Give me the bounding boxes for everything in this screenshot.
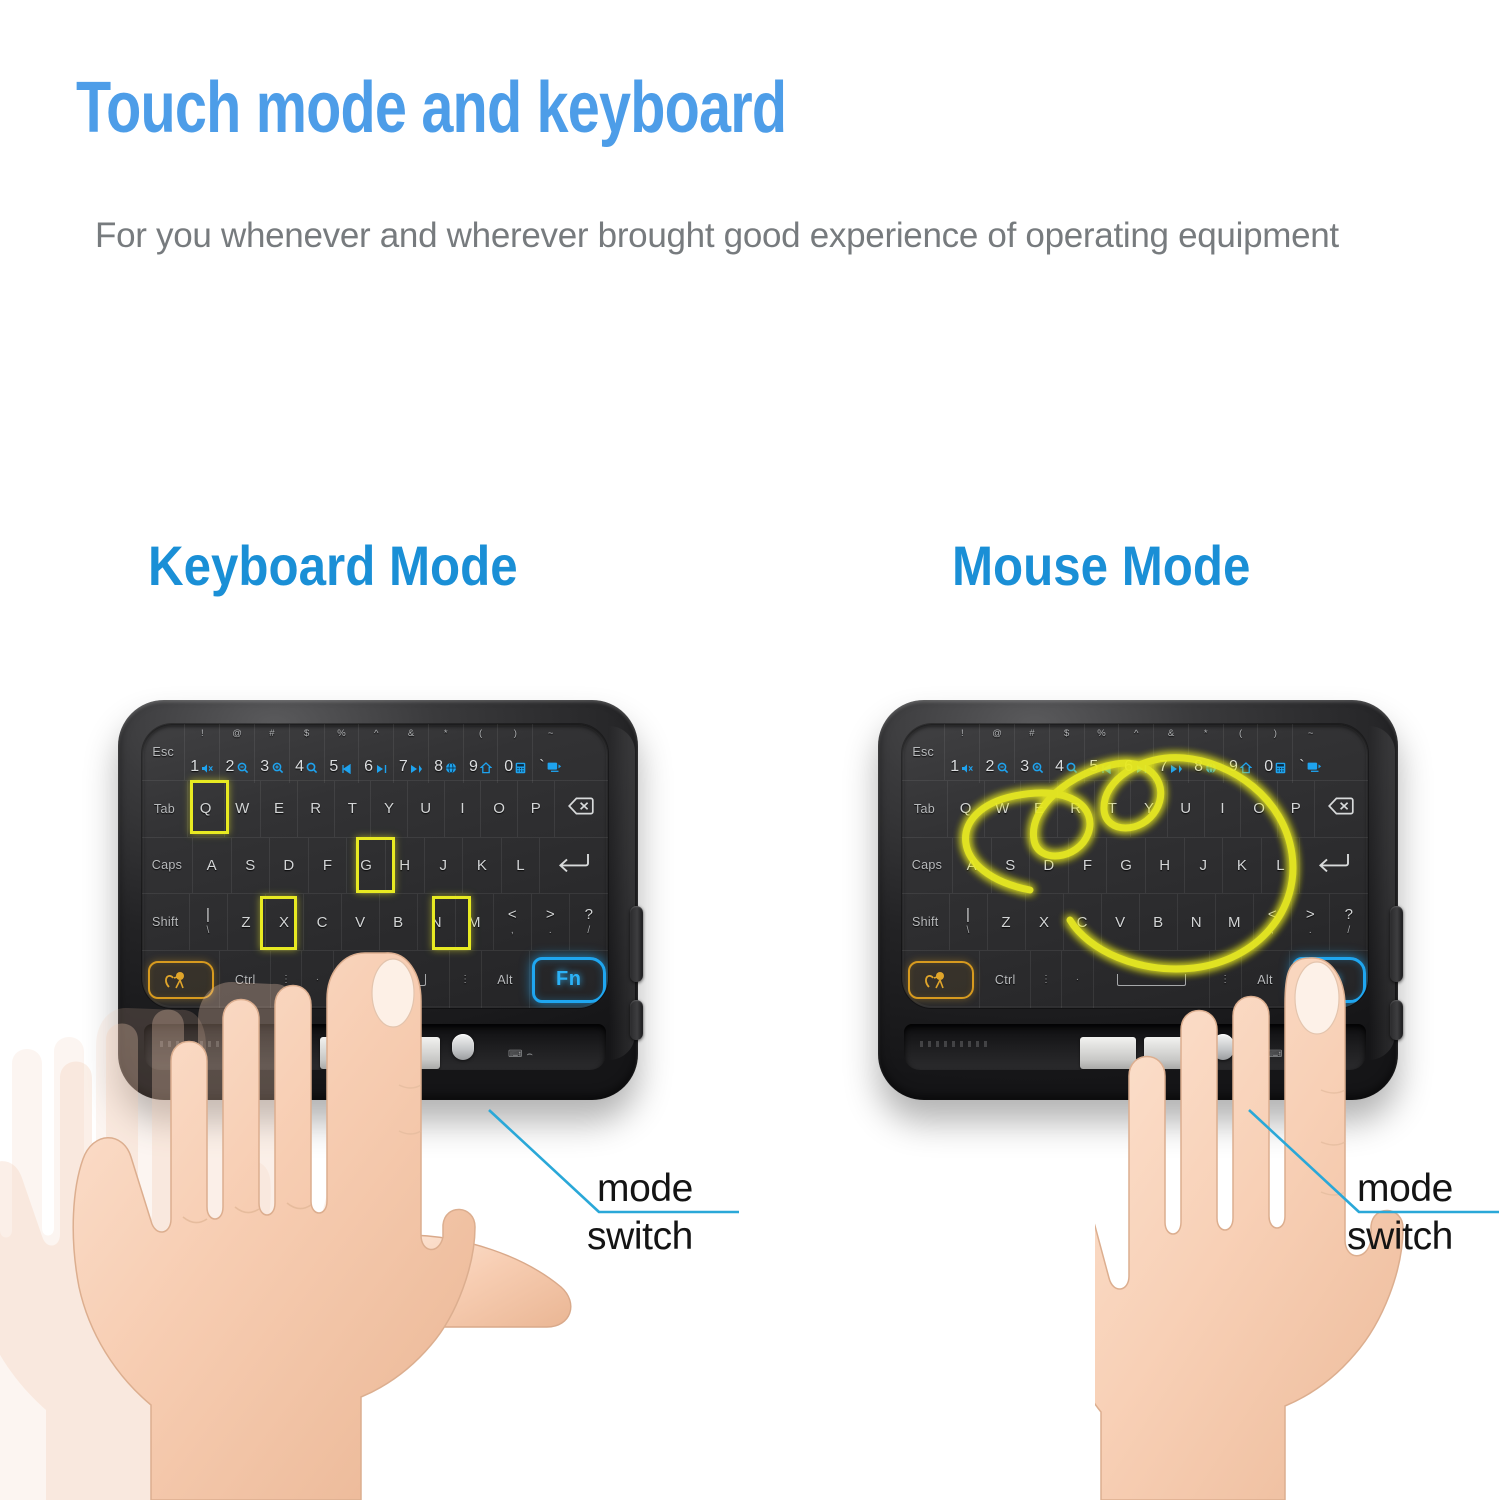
key-8-symbol: * — [444, 728, 448, 739]
key-a[interactable]: A — [953, 838, 992, 894]
browser-icon — [1205, 762, 1217, 774]
key-h[interactable]: H — [1146, 838, 1185, 894]
key-3-symbol: # — [1029, 728, 1034, 739]
key-5-symbol: % — [1097, 728, 1105, 739]
key-caps[interactable]: Caps — [142, 838, 193, 894]
key-4-symbol: $ — [304, 728, 309, 739]
key-shift[interactable]: Shift — [902, 894, 950, 950]
key-3-symbol: # — [269, 728, 274, 739]
key-i[interactable]: I — [1205, 781, 1242, 837]
key-4-symbol: $ — [1064, 728, 1069, 739]
key-k[interactable]: K — [463, 838, 502, 894]
key-w[interactable]: W — [225, 781, 262, 837]
key-8[interactable]: * 8 — [1189, 724, 1224, 783]
callout-line-1: mode — [597, 1168, 693, 1210]
volume-up-icon — [1032, 762, 1044, 774]
key-g[interactable]: G — [347, 838, 386, 894]
key-0-symbol: ) — [514, 728, 517, 739]
key-w[interactable]: W — [985, 781, 1022, 837]
key-t[interactable]: T — [335, 781, 372, 837]
key-enter[interactable] — [1300, 838, 1368, 894]
enter-icon — [1317, 852, 1351, 878]
key-7-digit: 7 — [399, 758, 408, 776]
key-s[interactable]: S — [992, 838, 1031, 894]
key-slash-top: ? — [1345, 907, 1354, 923]
key-9-digit: 9 — [1229, 758, 1238, 776]
key-0-symbol: ) — [1274, 728, 1277, 739]
key-l[interactable]: L — [502, 838, 541, 894]
key-backspace[interactable] — [1315, 781, 1368, 837]
backspace-icon — [1328, 797, 1354, 821]
key-backslash-top: | — [206, 907, 210, 923]
key-x[interactable]: X — [1026, 894, 1064, 950]
key-7[interactable]: & 7 — [394, 724, 429, 783]
key-3[interactable]: # 3 — [1015, 724, 1050, 783]
callout-line-2: switch — [587, 1216, 693, 1258]
key-8-digit: 8 — [1194, 758, 1203, 776]
key-2-symbol: @ — [992, 728, 1002, 739]
key-caps[interactable]: Caps — [902, 838, 953, 894]
side-button-upper[interactable] — [630, 906, 643, 982]
key-backspace[interactable] — [555, 781, 608, 837]
key-2-symbol: @ — [232, 728, 242, 739]
key-6[interactable]: ^ 6 — [359, 724, 394, 783]
key-1[interactable]: ! 1 — [945, 724, 980, 783]
key-u[interactable]: U — [1168, 781, 1205, 837]
key-backtick-symbol: ~ — [1308, 728, 1314, 739]
key-2[interactable]: @ 2 — [220, 724, 255, 783]
callout-line-1: mode — [1357, 1168, 1453, 1210]
key-h[interactable]: H — [386, 838, 425, 894]
key-5-digit: 5 — [329, 758, 338, 776]
key-arrow-left[interactable]: ⋮ — [1031, 951, 1062, 1008]
arrow-cluster-icon: ⋮ — [1041, 974, 1051, 985]
key-0-digit: 0 — [1264, 758, 1273, 776]
key-comma-top: < — [1268, 907, 1277, 923]
key-8-digit: 8 — [434, 758, 443, 776]
calculator-icon — [1275, 762, 1286, 774]
key-2-digit: 2 — [986, 758, 995, 776]
key-5-symbol: % — [337, 728, 345, 739]
enter-icon — [557, 852, 591, 878]
key-8-symbol: * — [1204, 728, 1208, 739]
key-8[interactable]: * 8 — [429, 724, 464, 783]
mouse-mode-panel: Esc ! 1 @ 2 # 3 — [750, 0, 1500, 1500]
key-backtick-digit: ` — [1299, 758, 1305, 776]
mute-icon — [961, 763, 974, 774]
key-5-digit: 5 — [1089, 758, 1098, 776]
key-arrow-up[interactable]: · — [1062, 951, 1093, 1008]
key-3-digit: 3 — [1020, 758, 1029, 776]
key-y[interactable]: Y — [1131, 781, 1168, 837]
key-j[interactable]: J — [425, 838, 464, 894]
key-t[interactable]: T — [1095, 781, 1132, 837]
key-r[interactable]: R — [1058, 781, 1095, 837]
key-7-digit: 7 — [1159, 758, 1168, 776]
key-d[interactable]: D — [270, 838, 309, 894]
key-6-symbol: ^ — [374, 728, 378, 739]
display-icon — [1307, 762, 1322, 774]
key-3[interactable]: # 3 — [255, 724, 290, 783]
key-y[interactable]: Y — [371, 781, 408, 837]
mute-icon — [201, 763, 214, 774]
key-ctrl[interactable]: Ctrl — [980, 951, 1031, 1008]
key-g[interactable]: G — [1107, 838, 1146, 894]
key-comma-top: < — [508, 907, 517, 923]
key-1-digit: 1 — [950, 758, 959, 776]
key-4[interactable]: $ 4 — [1050, 724, 1085, 783]
key-row-numbers: Esc ! 1 @ 2 # 3 — [902, 724, 1368, 781]
calculator-icon — [515, 762, 526, 774]
key-9-symbol: ( — [479, 728, 482, 739]
key-row-home: Caps A S D F G H J K L — [902, 838, 1368, 895]
key-tab[interactable]: Tab — [902, 781, 948, 837]
key-o[interactable]: O — [1241, 781, 1278, 837]
volume-down-icon — [237, 762, 249, 774]
key-z[interactable]: Z — [988, 894, 1026, 950]
volume-up-icon — [272, 762, 284, 774]
key-row-qwerty: Tab Q W E R T Y U I O P — [902, 781, 1368, 838]
key-7[interactable]: & 7 — [1154, 724, 1189, 783]
key-e[interactable]: E — [1021, 781, 1058, 837]
key-backslash-bot: \ — [967, 925, 970, 937]
key-d[interactable]: D — [1030, 838, 1069, 894]
previous-track-icon — [1101, 764, 1114, 774]
key-9-digit: 9 — [469, 758, 478, 776]
key-9[interactable]: ( 9 — [464, 724, 499, 783]
key-1-symbol: ! — [201, 728, 204, 739]
arrow-cluster-icon: · — [1076, 974, 1080, 985]
infographic-page: Touch mode and keyboard For you whenever… — [0, 0, 1500, 1500]
key-6-symbol: ^ — [1134, 728, 1138, 739]
key-slash-top: ? — [585, 907, 594, 923]
keyboard-mode-panel: Esc ! 1 @ 2 # 3 — [0, 0, 750, 1500]
key-6[interactable]: ^ 6 — [1119, 724, 1154, 783]
key-esc[interactable]: Esc — [142, 724, 185, 780]
key-p[interactable]: P — [1278, 781, 1315, 837]
key-f[interactable]: F — [309, 838, 348, 894]
callout-line-2: switch — [1347, 1216, 1453, 1258]
volume-down-icon — [997, 762, 1009, 774]
side-button-lower[interactable] — [630, 1000, 643, 1040]
key-k[interactable]: K — [1223, 838, 1262, 894]
key-f[interactable]: F — [1069, 838, 1108, 894]
key-1-digit: 1 — [190, 758, 199, 776]
key-j[interactable]: J — [1185, 838, 1224, 894]
key-p[interactable]: P — [518, 781, 555, 837]
home-icon — [1240, 762, 1252, 774]
key-tab[interactable]: Tab — [142, 781, 188, 837]
key-o[interactable]: O — [481, 781, 518, 837]
browser-icon — [445, 762, 457, 774]
key-9-symbol: ( — [1239, 728, 1242, 739]
key-period-top: > — [1306, 907, 1315, 923]
key-row-qwerty: Tab Q W E R T Y U I O P — [142, 781, 608, 838]
key-0[interactable]: ) 0 — [1258, 724, 1293, 783]
key-a[interactable]: A — [193, 838, 232, 894]
key-enter[interactable] — [540, 838, 608, 894]
key-backtick[interactable]: ~ ` — [533, 724, 568, 783]
play-pause-icon — [1135, 764, 1148, 774]
key-q[interactable]: Q — [948, 781, 985, 837]
key-6-digit: 6 — [1124, 758, 1133, 776]
key-backtick-digit: ` — [539, 758, 545, 776]
home-icon — [480, 762, 492, 774]
speaker-vent — [920, 1041, 990, 1047]
key-7-symbol: & — [408, 728, 414, 739]
key-5[interactable]: % 5 — [1085, 724, 1120, 783]
next-track-icon — [410, 764, 423, 774]
key-i[interactable]: I — [445, 781, 482, 837]
previous-track-icon — [341, 764, 354, 774]
key-q[interactable]: Q — [188, 781, 225, 837]
key-3-digit: 3 — [260, 758, 269, 776]
key-backtick[interactable]: ~ ` — [1293, 724, 1328, 783]
key-7-symbol: & — [1168, 728, 1174, 739]
search-icon — [306, 762, 318, 774]
key-1[interactable]: ! 1 — [185, 724, 220, 783]
key-touchpad-mode[interactable] — [902, 951, 980, 1008]
key-0[interactable]: ) 0 — [498, 724, 533, 783]
backspace-icon — [568, 797, 594, 821]
display-icon — [547, 762, 562, 774]
key-4-digit: 4 — [1055, 758, 1064, 776]
key-esc[interactable]: Esc — [902, 724, 945, 780]
play-pause-icon — [375, 764, 388, 774]
key-u[interactable]: U — [408, 781, 445, 837]
next-track-icon — [1170, 764, 1183, 774]
key-backslash-top: | — [966, 907, 970, 923]
key-e[interactable]: E — [261, 781, 298, 837]
key-row-numbers: Esc ! 1 @ 2 # 3 — [142, 724, 608, 781]
key-row-home: Caps A S D F G H J K L — [142, 838, 608, 895]
key-2-digit: 2 — [226, 758, 235, 776]
search-icon — [1066, 762, 1078, 774]
key-0-digit: 0 — [504, 758, 513, 776]
key-4[interactable]: $ 4 — [290, 724, 325, 783]
key-l[interactable]: L — [1262, 838, 1301, 894]
key-r[interactable]: R — [298, 781, 335, 837]
key-backtick-symbol: ~ — [548, 728, 554, 739]
key-2[interactable]: @ 2 — [980, 724, 1015, 783]
key-1-symbol: ! — [961, 728, 964, 739]
key-backslash[interactable]: | \ — [950, 894, 988, 950]
touchpad-mode-icon — [908, 961, 974, 999]
key-s[interactable]: S — [232, 838, 271, 894]
key-9[interactable]: ( 9 — [1224, 724, 1259, 783]
key-4-digit: 4 — [295, 758, 304, 776]
key-period-top: > — [546, 907, 555, 923]
key-5[interactable]: % 5 — [325, 724, 360, 783]
key-6-digit: 6 — [364, 758, 373, 776]
